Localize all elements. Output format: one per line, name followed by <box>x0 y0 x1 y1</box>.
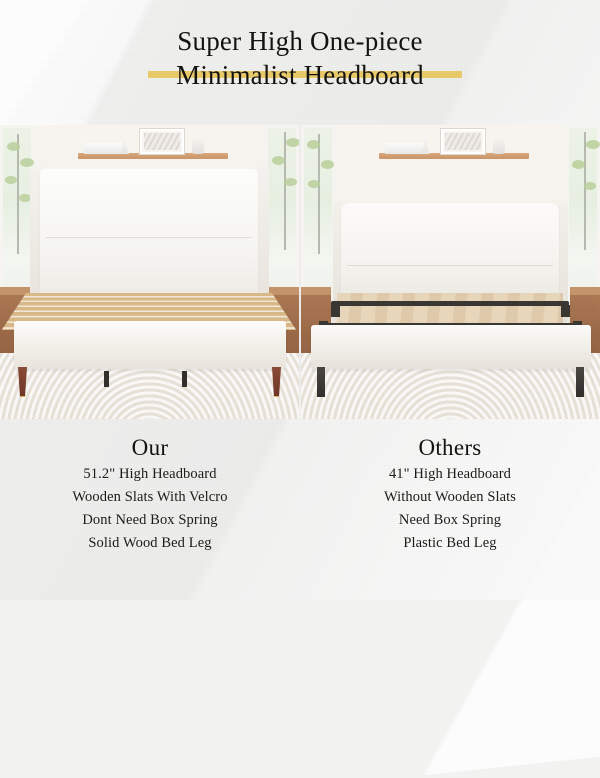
our-column: Our 51.2" High Headboard Wooden Slats Wi… <box>0 424 300 600</box>
others-feature-4: Plastic Bed Leg <box>300 532 600 555</box>
others-bed-photo <box>301 125 600 419</box>
bed-side-rail <box>14 321 286 369</box>
center-support-leg-2 <box>182 371 187 387</box>
plastic-leg-left <box>317 367 325 397</box>
our-feature-4: Solid Wood Bed Leg <box>0 532 300 555</box>
others-feature-3: Need Box Spring <box>300 509 600 532</box>
infographic-page: Super High One-piece Minimalist Headboar… <box>0 0 600 600</box>
metal-support-bar-rear <box>331 301 569 306</box>
others-bed-frame <box>301 125 600 419</box>
our-bed-frame <box>0 125 299 419</box>
solid-wood-leg-right <box>272 367 281 397</box>
our-feature-3: Dont Need Box Spring <box>0 509 300 532</box>
solid-wood-leg-left <box>18 367 27 397</box>
plastic-leg-right <box>576 367 584 397</box>
our-heading: Our <box>0 433 300 463</box>
others-heading: Others <box>300 433 600 463</box>
product-photo-band <box>0 125 600 419</box>
center-support-leg-1 <box>104 371 109 387</box>
title-block: Super High One-piece Minimalist Headboar… <box>0 24 600 92</box>
our-bed-photo <box>0 125 299 419</box>
bed-side-rail <box>311 325 591 369</box>
our-feature-1: 51.2" High Headboard <box>0 463 300 486</box>
metal-bracket-1 <box>331 305 340 317</box>
title-line-2: Minimalist Headboard <box>172 58 428 92</box>
our-feature-2: Wooden Slats With Velcro <box>0 486 300 509</box>
title-line-1: Super High One-piece <box>0 24 600 58</box>
tall-upholstered-headboard <box>40 169 258 297</box>
others-column: Others 41" High Headboard Without Wooden… <box>300 424 600 600</box>
comparison-section: Our 51.2" High Headboard Wooden Slats Wi… <box>0 424 600 600</box>
short-upholstered-headboard <box>341 203 559 295</box>
others-feature-1: 41" High Headboard <box>300 463 600 486</box>
metal-bracket-2 <box>561 305 570 317</box>
others-feature-2: Without Wooden Slats <box>300 486 600 509</box>
